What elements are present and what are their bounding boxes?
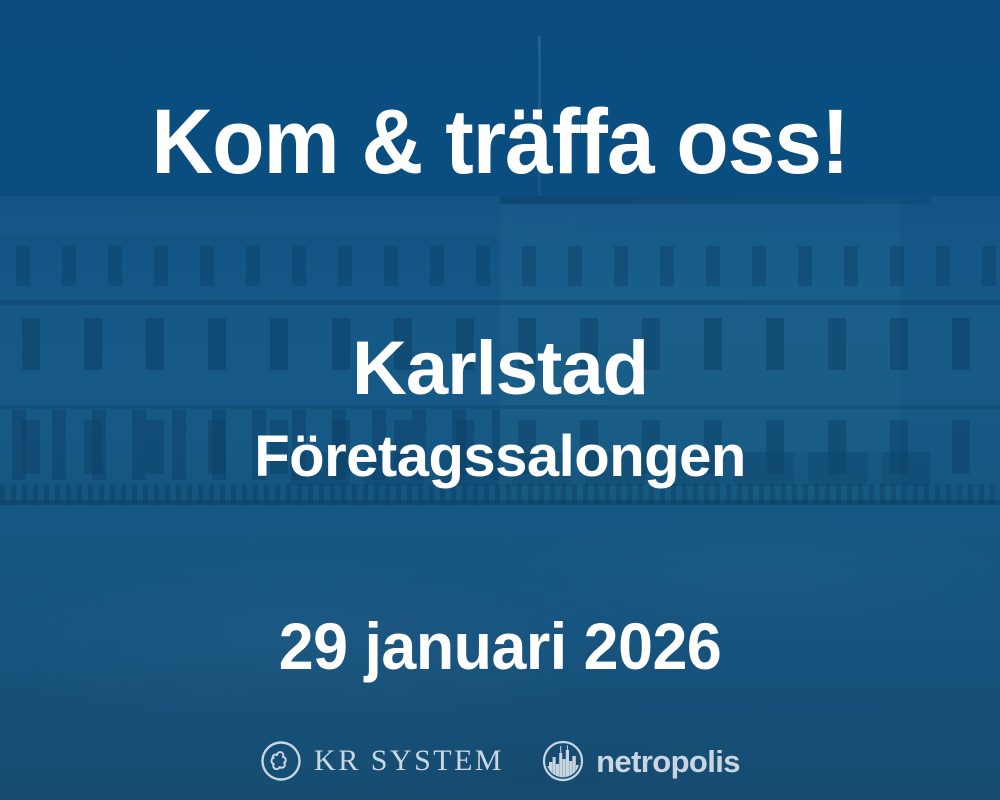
kr-system-logo: KR SYSTEM	[260, 740, 504, 782]
poster-date: 29 januari 2026	[25, 613, 975, 679]
poster-venue: Företagssalongen	[0, 428, 1000, 486]
puzzle-circle-icon	[260, 740, 302, 782]
poster-headline: Kom & träffa oss!	[35, 96, 965, 188]
poster-content: Kom & träffa oss! Karlstad Företagssalon…	[0, 0, 1000, 800]
netropolis-logo: netropolis	[542, 740, 740, 782]
event-poster: Kom & träffa oss! Karlstad Företagssalon…	[0, 0, 1000, 800]
city-skyline-circle-icon	[542, 740, 584, 782]
logo-row: KR SYSTEM	[0, 733, 1000, 789]
poster-city: Karlstad	[0, 331, 1000, 407]
netropolis-wordmark: netropolis	[596, 746, 740, 777]
kr-system-wordmark: KR SYSTEM	[314, 746, 504, 776]
